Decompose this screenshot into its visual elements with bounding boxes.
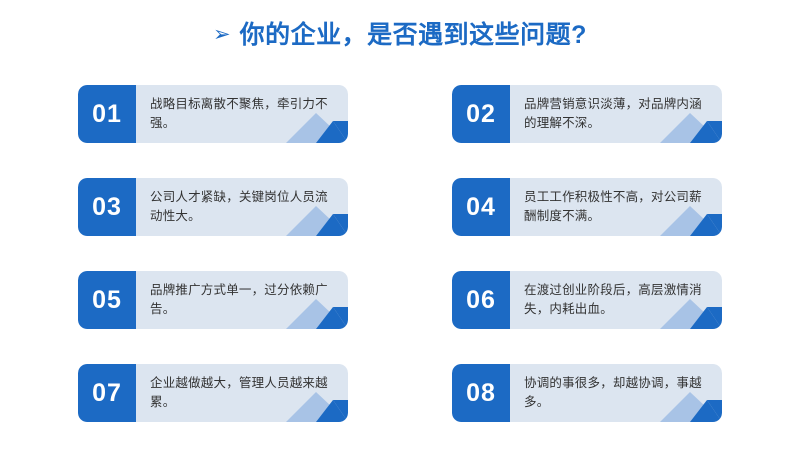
- card-text: 员工工作积极性不高，对公司薪酬制度不满。: [510, 188, 722, 227]
- card-body: 协调的事很多，却越协调，事越多。: [510, 364, 722, 422]
- card-text: 公司人才紧缺，关键岗位人员流动性大。: [136, 188, 348, 227]
- card-body: 品牌营销意识淡薄，对品牌内涵的理解不深。: [510, 85, 722, 143]
- card-body: 公司人才紧缺，关键岗位人员流动性大。: [136, 178, 348, 236]
- card-number-badge: 03: [78, 178, 136, 236]
- card-number-badge: 08: [452, 364, 510, 422]
- card-body: 员工工作积极性不高，对公司薪酬制度不满。: [510, 178, 722, 236]
- problem-card-grid: 01 战略目标离散不聚焦，牵引力不强。 02 品牌营销意识淡薄，对品牌内涵的理解…: [78, 85, 722, 422]
- card-body: 品牌推广方式单一，过分依赖广告。: [136, 271, 348, 329]
- card-number-badge: 07: [78, 364, 136, 422]
- problem-card[interactable]: 07 企业越做越大，管理人员越来越累。: [78, 364, 348, 422]
- card-number-badge: 06: [452, 271, 510, 329]
- slide-root: ➢ 你的企业，是否遇到这些问题? 01 战略目标离散不聚焦，牵引力不强。 02 …: [0, 0, 800, 450]
- problem-card[interactable]: 04 员工工作积极性不高，对公司薪酬制度不满。: [452, 178, 722, 236]
- problem-card[interactable]: 02 品牌营销意识淡薄，对品牌内涵的理解不深。: [452, 85, 722, 143]
- card-text: 协调的事很多，却越协调，事越多。: [510, 374, 722, 413]
- card-number-badge: 04: [452, 178, 510, 236]
- card-text: 企业越做越大，管理人员越来越累。: [136, 374, 348, 413]
- card-number-badge: 01: [78, 85, 136, 143]
- card-number-badge: 05: [78, 271, 136, 329]
- card-number-badge: 02: [452, 85, 510, 143]
- problem-card[interactable]: 05 品牌推广方式单一，过分依赖广告。: [78, 271, 348, 329]
- problem-card[interactable]: 08 协调的事很多，却越协调，事越多。: [452, 364, 722, 422]
- arrow-bullet-icon: ➢: [213, 24, 231, 45]
- card-text: 在渡过创业阶段后，高层激情消失，内耗出血。: [510, 281, 722, 320]
- card-text: 品牌推广方式单一，过分依赖广告。: [136, 281, 348, 320]
- card-body: 在渡过创业阶段后，高层激情消失，内耗出血。: [510, 271, 722, 329]
- card-body: 战略目标离散不聚焦，牵引力不强。: [136, 85, 348, 143]
- card-body: 企业越做越大，管理人员越来越累。: [136, 364, 348, 422]
- card-text: 战略目标离散不聚焦，牵引力不强。: [136, 95, 348, 134]
- page-title-text: 你的企业，是否遇到这些问题?: [240, 22, 587, 50]
- problem-card[interactable]: 06 在渡过创业阶段后，高层激情消失，内耗出血。: [452, 271, 722, 329]
- problem-card[interactable]: 03 公司人才紧缺，关键岗位人员流动性大。: [78, 178, 348, 236]
- card-text: 品牌营销意识淡薄，对品牌内涵的理解不深。: [510, 95, 722, 134]
- page-title: ➢ 你的企业，是否遇到这些问题?: [0, 22, 800, 50]
- problem-card[interactable]: 01 战略目标离散不聚焦，牵引力不强。: [78, 85, 348, 143]
